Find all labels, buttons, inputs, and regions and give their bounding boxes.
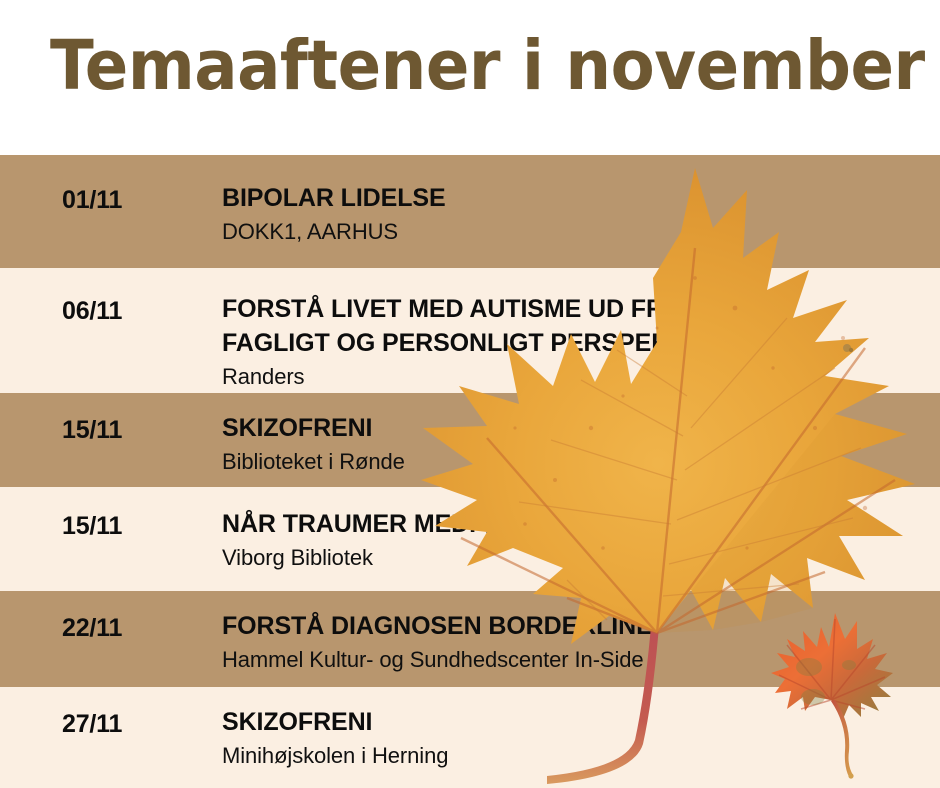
event-row: 27/11 SKIZOFRENI Minihøjskolen i Herning [0, 687, 940, 788]
event-title: SKIZOFRENI [222, 411, 930, 445]
event-list: 01/11 BIPOLAR LIDELSE DOKK1, AARHUS 06/1… [0, 155, 940, 788]
event-date: 06/11 [62, 296, 122, 326]
event-venue: Viborg Bibliotek [222, 543, 930, 573]
event-row: 15/11 NÅR TRAUMER MEDFØRER PTSD Viborg B… [0, 487, 940, 591]
event-title: NÅR TRAUMER MEDFØRER PTSD [222, 507, 930, 541]
event-details: FORSTÅ DIAGNOSEN BORDERLINE Hammel Kultu… [222, 609, 930, 675]
event-title: BIPOLAR LIDELSE [222, 181, 930, 215]
event-venue: Minihøjskolen i Herning [222, 741, 930, 771]
event-date: 15/11 [62, 511, 122, 541]
title-band: Temaaftener i november [0, 0, 940, 155]
event-date: 01/11 [62, 185, 122, 215]
event-details: SKIZOFRENI Minihøjskolen i Herning [222, 705, 930, 771]
event-venue: Randers [222, 362, 930, 392]
poster-canvas: Temaaftener i november 01/11 BIPOLAR LID… [0, 0, 940, 788]
event-row: 06/11 FORSTÅ LIVET MED AUTISME UD FRA ET… [0, 268, 940, 393]
event-row: 22/11 FORSTÅ DIAGNOSEN BORDERLINE Hammel… [0, 591, 940, 687]
event-details: SKIZOFRENI Biblioteket i Rønde [222, 411, 930, 477]
event-title: FORSTÅ LIVET MED AUTISME UD FRA ET FAGLI… [222, 292, 930, 360]
event-title: SKIZOFRENI [222, 705, 930, 739]
event-date: 27/11 [62, 709, 122, 739]
event-venue: Hammel Kultur- og Sundhedscenter In-Side [222, 645, 930, 675]
event-row: 01/11 BIPOLAR LIDELSE DOKK1, AARHUS [0, 155, 940, 268]
page-title: Temaaftener i november [50, 26, 841, 106]
event-details: FORSTÅ LIVET MED AUTISME UD FRA ET FAGLI… [222, 292, 930, 392]
event-date: 15/11 [62, 415, 122, 445]
event-title: FORSTÅ DIAGNOSEN BORDERLINE [222, 609, 930, 643]
event-venue: DOKK1, AARHUS [222, 217, 930, 247]
event-date: 22/11 [62, 613, 122, 643]
event-row: 15/11 SKIZOFRENI Biblioteket i Rønde [0, 393, 940, 487]
event-details: BIPOLAR LIDELSE DOKK1, AARHUS [222, 181, 930, 247]
event-venue: Biblioteket i Rønde [222, 447, 930, 477]
event-details: NÅR TRAUMER MEDFØRER PTSD Viborg Bibliot… [222, 507, 930, 573]
